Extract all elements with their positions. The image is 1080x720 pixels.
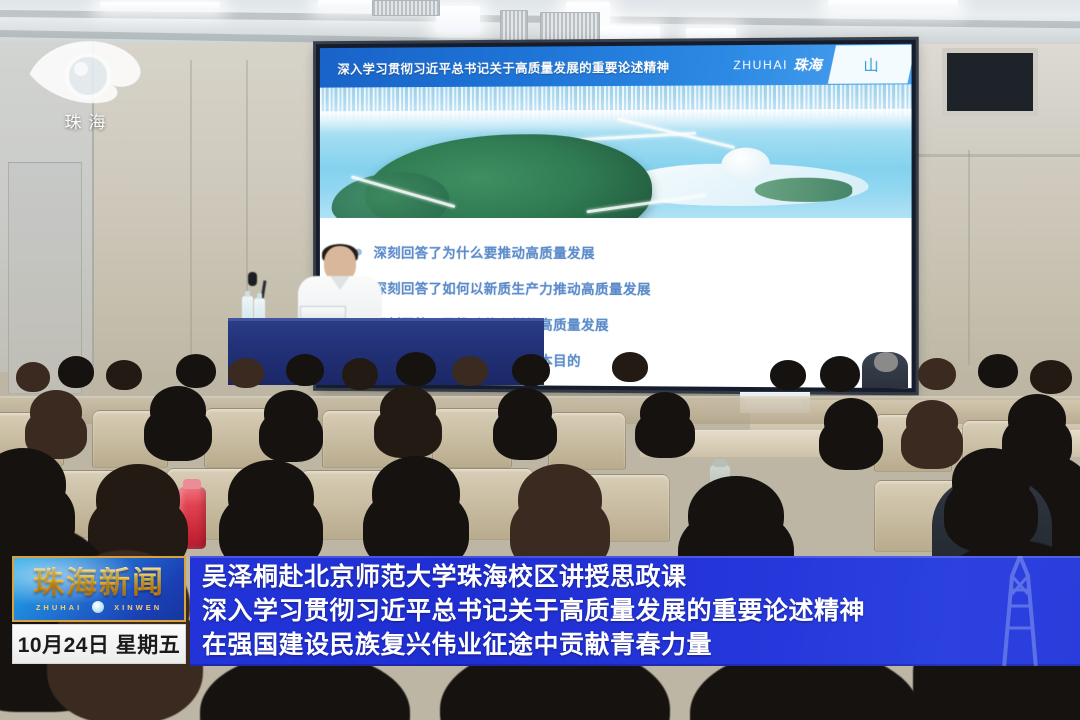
globe-dot-icon [92, 601, 104, 613]
list-item: 深刻回答了为什么要推动高质量发展 [355, 234, 912, 271]
zhuhai-eye-logo-icon [26, 34, 144, 106]
pinyin-right: XINWEN [114, 603, 162, 612]
attendee-head [612, 352, 648, 382]
headline-line-2: 深入学习贯彻习近平总书记关于高质量发展的重要论述精神 [202, 594, 1080, 628]
ceiling-light [100, 2, 220, 11]
slide-brand-cn: 珠海 [793, 55, 821, 75]
attendee-head [1030, 360, 1072, 394]
lecture-seat [548, 412, 626, 470]
pinyin-left: ZHUHAI [36, 603, 82, 612]
attendee-head [770, 360, 806, 390]
attendee-head [286, 354, 324, 386]
ceiling-vent [372, 0, 440, 16]
ceiling-light [828, 0, 958, 10]
microphone-head-icon [248, 272, 257, 286]
headline-line-1: 吴泽桐赴北京师范大学珠海校区讲授思政课 [202, 560, 1080, 594]
headline-line-3: 在强国建设民族复兴伟业征途中贡献青春力量 [202, 628, 1080, 662]
station-logo-label: 珠海 [26, 108, 144, 133]
attendee-head [176, 354, 216, 388]
wall-seam [968, 150, 970, 365]
ceiling-vent [540, 12, 600, 44]
skyline-haze [320, 109, 912, 133]
attendee-head [96, 464, 180, 534]
program-logo-title: 珠海新闻 [33, 567, 165, 598]
attendee-head [106, 360, 142, 390]
bullet-text: 深刻回答了如何以新质生产力推动高质量发展 [374, 277, 651, 298]
slide-aerial-photo [320, 84, 912, 218]
attendee-head [512, 354, 550, 386]
program-logo: 珠海新闻 ZHUHAI XINWEN [12, 556, 186, 622]
slide-mark-glyph: 山 [864, 54, 879, 75]
headline-panel: 吴泽桐赴北京师范大学珠海校区讲授思政课 深入学习贯彻习近平总书记关于高质量发展的… [190, 556, 1080, 666]
ceiling-light [600, 26, 660, 40]
attendee-head [640, 392, 690, 434]
attendee-head [918, 358, 956, 390]
attendee-head [372, 456, 460, 530]
attendee-head [30, 390, 82, 434]
green-patch [755, 178, 853, 202]
broadcast-frame: 深入学习贯彻习近平总书记关于高质量发展的重要论述精神 ZHUHAI 珠海 山 [0, 0, 1080, 720]
wall-monitor [942, 48, 1038, 116]
slide-banner: 深入学习贯彻习近平总书记关于高质量发展的重要论述精神 ZHUHAI 珠海 山 [320, 44, 912, 88]
attendee-head [264, 390, 318, 436]
dome-building [721, 148, 770, 182]
attendee-head [228, 460, 314, 532]
attendee-head [150, 386, 206, 434]
attendee-head [518, 464, 602, 534]
attendee-head [16, 362, 50, 392]
station-logo: 珠海 [26, 34, 144, 146]
lower-third-graphic: 珠海新闻 ZHUHAI XINWEN 10月24日 星期五 吴泽桐赴北京师范大学… [0, 552, 1080, 668]
ceiling-light [686, 28, 736, 40]
attendee-head [228, 358, 264, 388]
attendee-head [978, 354, 1018, 388]
ceiling-vent [500, 10, 528, 46]
attendee-head [452, 356, 488, 386]
ceiling-light [436, 6, 480, 32]
zhuhai-calligraphy-icon: 山 [828, 45, 912, 84]
slide-banner-title: 深入学习贯彻习近平总书记关于高质量发展的重要论述精神 [337, 56, 669, 77]
attendee-head [380, 386, 436, 432]
date-badge: 10月24日 星期五 [12, 624, 186, 664]
attendee-head [58, 356, 94, 388]
attendee-head [498, 388, 552, 434]
attendee-head [342, 358, 378, 390]
attendee-head [820, 356, 860, 392]
attendee-head [688, 476, 784, 554]
attendee-head [952, 448, 1030, 514]
attendee-head [396, 352, 436, 386]
attendee-head [906, 400, 958, 444]
list-item: 深刻回答了如何以新质生产力推动高质量发展 [355, 269, 912, 307]
program-logo-pinyin: ZHUHAI XINWEN [36, 601, 162, 613]
slide-brand-en: ZHUHAI [733, 58, 788, 72]
slide-banner-brand: ZHUHAI 珠海 山 [733, 44, 911, 86]
date-text: 10月24日 星期五 [18, 629, 181, 659]
attendee-head [1008, 394, 1066, 444]
forested-island [332, 172, 450, 218]
bullet-text: 深刻回答了为什么要推动高质量发展 [374, 242, 595, 262]
wall-seam [190, 60, 192, 380]
attendee-head [824, 398, 878, 444]
